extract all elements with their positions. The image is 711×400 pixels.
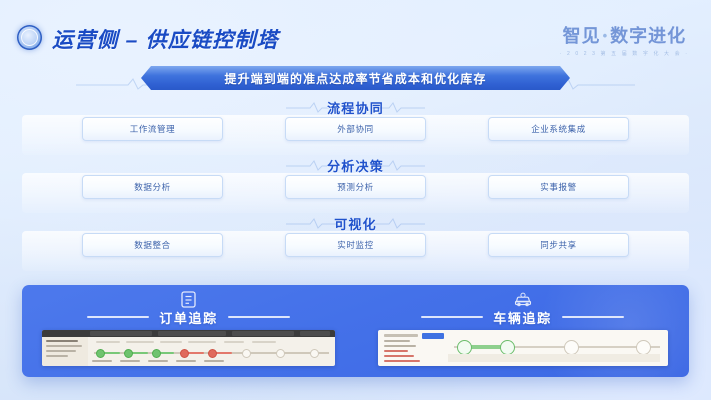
route-node [564,340,579,355]
page-title: 运营侧 – 供应链控制塔 [52,24,279,54]
section-visualization: 可视化 数据整合 实时监控 同步共享 [0,214,711,271]
section-title: 可视化 [0,214,711,233]
screenshot-footer-bar [448,354,660,362]
card-label: 实事报警 [540,181,576,193]
section-title: 分析决策 [0,156,711,175]
sidebar-text-line [46,355,68,357]
timeline-timestamp [148,360,168,362]
order-tracking-block: 订单追踪 [22,285,355,377]
info-line-alert [384,355,414,357]
title-rule-right [562,316,624,318]
timeline-timestamp [120,360,140,362]
column-header [224,341,244,343]
title-rule-right [228,316,290,318]
document-list-icon [180,290,198,308]
topbar-tab [232,331,294,336]
card-label: 工作流管理 [130,123,176,135]
card-label: 数据分析 [134,181,170,193]
card-label: 预测分析 [337,181,373,193]
title-rule-left [421,316,483,318]
section-title: 流程协同 [0,98,711,117]
timeline-timestamp [176,360,196,362]
topbar-tab [158,331,226,336]
card-data-integration[interactable]: 数据整合 [82,233,223,257]
card-label: 实时监控 [337,239,373,251]
timeline-timestamp [92,360,112,362]
info-line-alert [384,360,420,362]
timeline-node [276,349,285,358]
slide-root: 运营侧 – 供应链控制塔 智见•数字进化 · 2 0 2 3 第 五 届 数 字… [0,0,711,400]
banner-text: 提升端到端的准点达成率节省成本和优化库存 [224,70,486,87]
section-cards: 数据整合 实时监控 同步共享 [0,233,711,257]
brand-lockup: 智见•数字进化 · 2 0 2 3 第 五 届 数 字 化 大 会 · [560,22,689,57]
timeline-timestamp [204,360,224,362]
timeline-node [152,349,161,358]
timeline-node [124,349,133,358]
brand-name-left: 智见 [563,26,601,46]
section-analysis-decision: 分析决策 数据分析 预测分析 实事报警 [0,156,711,213]
column-header [96,341,120,343]
tracking-panel: 订单追踪 [22,285,689,377]
screenshot-header-line [384,334,418,337]
brand-name: 智见•数字进化 [560,22,689,48]
card-enterprise-system-integration[interactable]: 企业系统集成 [488,117,629,141]
timeline-node [310,349,319,358]
vehicle-car-icon [514,290,532,308]
card-label: 数据整合 [134,239,170,251]
headline-banner: 提升端到端的准点达成率节省成本和优化库存 [141,66,570,90]
timeline-node [96,349,105,358]
brand-subtitle: · 2 0 2 3 第 五 届 数 字 化 大 会 · [560,50,689,57]
title-rule-left [87,316,149,318]
info-line-alert [384,350,408,352]
column-header [126,341,154,343]
topbar-tab [90,331,152,336]
card-workflow-management[interactable]: 工作流管理 [82,117,223,141]
brand-name-right: 数字进化 [610,26,686,46]
banner-row: 提升端到端的准点达成率节省成本和优化库存 [0,66,711,90]
card-realtime-monitoring[interactable]: 实时监控 [285,233,426,257]
route-node [457,340,472,355]
route-progress-segment [470,345,502,349]
topbar-tab [300,331,330,336]
sidebar-text-line [46,340,78,342]
timeline-node [208,349,217,358]
timeline-node [242,349,251,358]
sidebar-text-line [46,345,82,347]
card-label: 企业系统集成 [531,123,586,135]
vehicle-tracking-screenshot[interactable] [378,330,668,366]
card-predictive-analysis[interactable]: 预测分析 [285,175,426,199]
route-node [500,340,515,355]
column-header [188,341,216,343]
timeline-node [180,349,189,358]
section-cards: 工作流管理 外部协同 企业系统集成 [0,117,711,141]
brand-dot-icon: • [601,28,611,43]
section-process-collaboration: 流程协同 工作流管理 外部协同 企业系统集成 [0,98,711,155]
section-cards: 数据分析 预测分析 实事报警 [0,175,711,199]
order-tracking-screenshot[interactable] [42,330,335,366]
card-external-collaboration[interactable]: 外部协同 [285,117,426,141]
screenshot-status-badge [422,333,444,339]
card-realtime-alert[interactable]: 实事报警 [488,175,629,199]
column-header [252,341,276,343]
info-line [384,340,410,342]
vehicle-tracking-block: 车辆追踪 [356,285,689,377]
circle-ring-logo-icon [17,25,42,50]
vehicle-tracking-title-row: 车辆追踪 [356,309,689,325]
order-tracking-title: 订单追踪 [159,308,217,327]
slide-header: 运营侧 – 供应链控制塔 智见•数字进化 · 2 0 2 3 第 五 届 数 字… [0,0,711,62]
sections-container: 流程协同 工作流管理 外部协同 企业系统集成 分析决策 [0,98,711,272]
card-data-analysis[interactable]: 数据分析 [82,175,223,199]
vehicle-tracking-title: 车辆追踪 [493,308,551,327]
sidebar-text-line [46,350,76,352]
card-sync-sharing[interactable]: 同步共享 [488,233,629,257]
card-label: 外部协同 [337,123,373,135]
route-node [636,340,651,355]
card-label: 同步共享 [540,239,576,251]
column-header [160,341,182,343]
info-line [384,345,416,347]
order-tracking-title-row: 订单追踪 [22,309,355,325]
